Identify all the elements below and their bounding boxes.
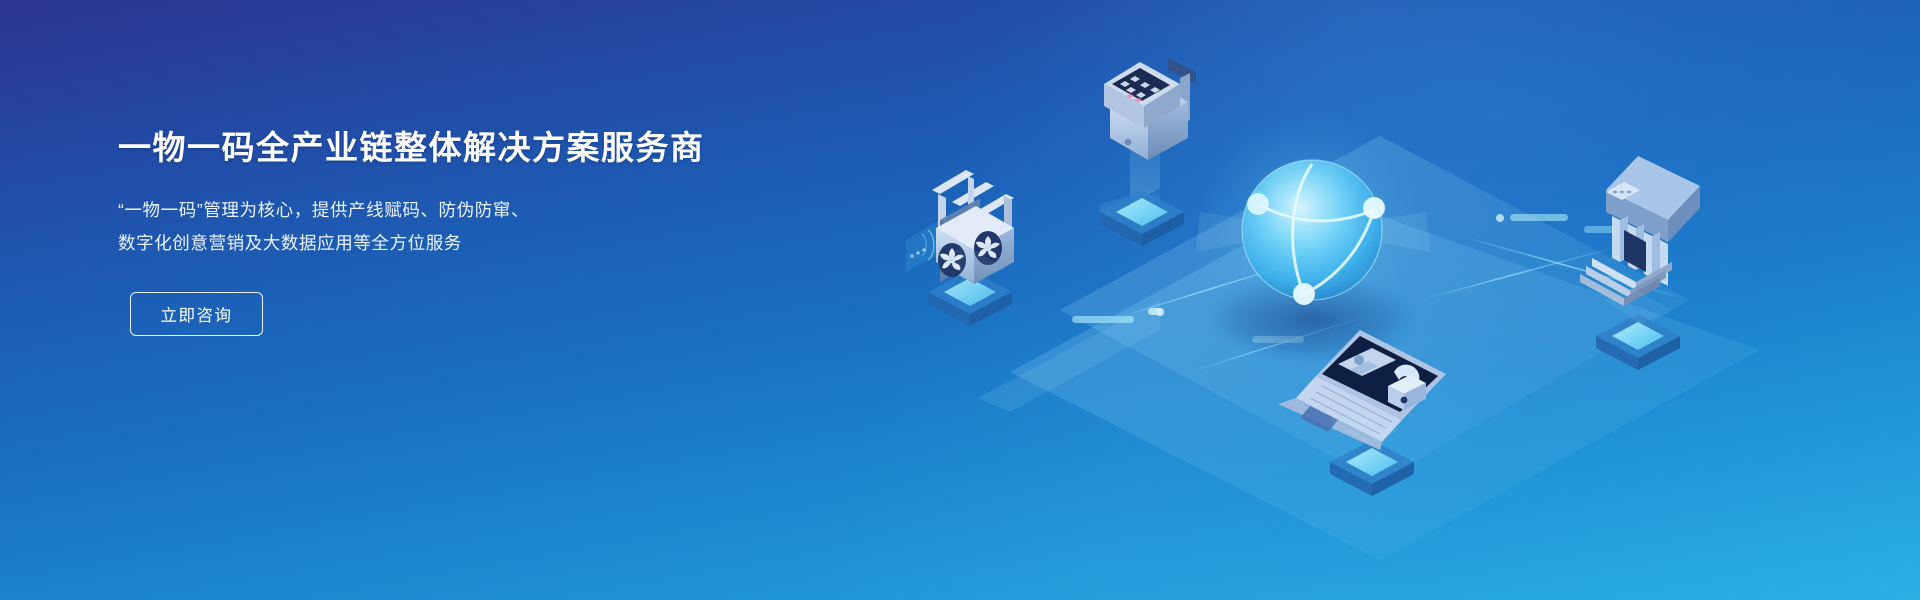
pos-terminal-icon (1104, 58, 1196, 160)
consult-now-button[interactable]: 立即咨询 (130, 292, 263, 336)
subtitle-line-2: 数字化创意营销及大数据应用等全方位服务 (118, 227, 778, 260)
hero-copy: 一物一码全产业链整体解决方案服务商 “一物一码”管理为核心，提供产线赋码、防伪防… (118, 128, 778, 336)
subtitle-line-1: “一物一码”管理为核心，提供产线赋码、防伪防窜、 (118, 194, 778, 227)
signal-cone (906, 220, 940, 272)
network-globe-icon (1192, 110, 1432, 364)
hero-banner: 一物一码全产业链整体解决方案服务商 “一物一码”管理为核心，提供产线赋码、防伪防… (0, 0, 1920, 600)
page-title: 一物一码全产业链整体解决方案服务商 (118, 128, 778, 168)
hero-illustration (860, 0, 1920, 600)
